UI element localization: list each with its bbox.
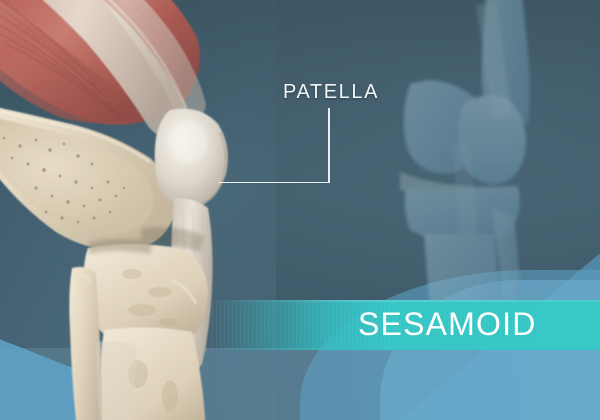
callout-leader-line-vertical bbox=[328, 108, 330, 183]
illustration-canvas: PATELLA SESAMOID bbox=[0, 0, 600, 420]
sesamoid-banner-text: SESAMOID bbox=[358, 306, 537, 343]
knee-anatomy-illustration bbox=[0, 0, 322, 420]
xray-knee-ghost-image bbox=[392, 0, 600, 324]
patella-callout-label: PATELLA bbox=[283, 81, 379, 104]
callout-leader-line-horizontal bbox=[218, 182, 330, 184]
sesamoid-banner: SESAMOID bbox=[212, 300, 600, 350]
